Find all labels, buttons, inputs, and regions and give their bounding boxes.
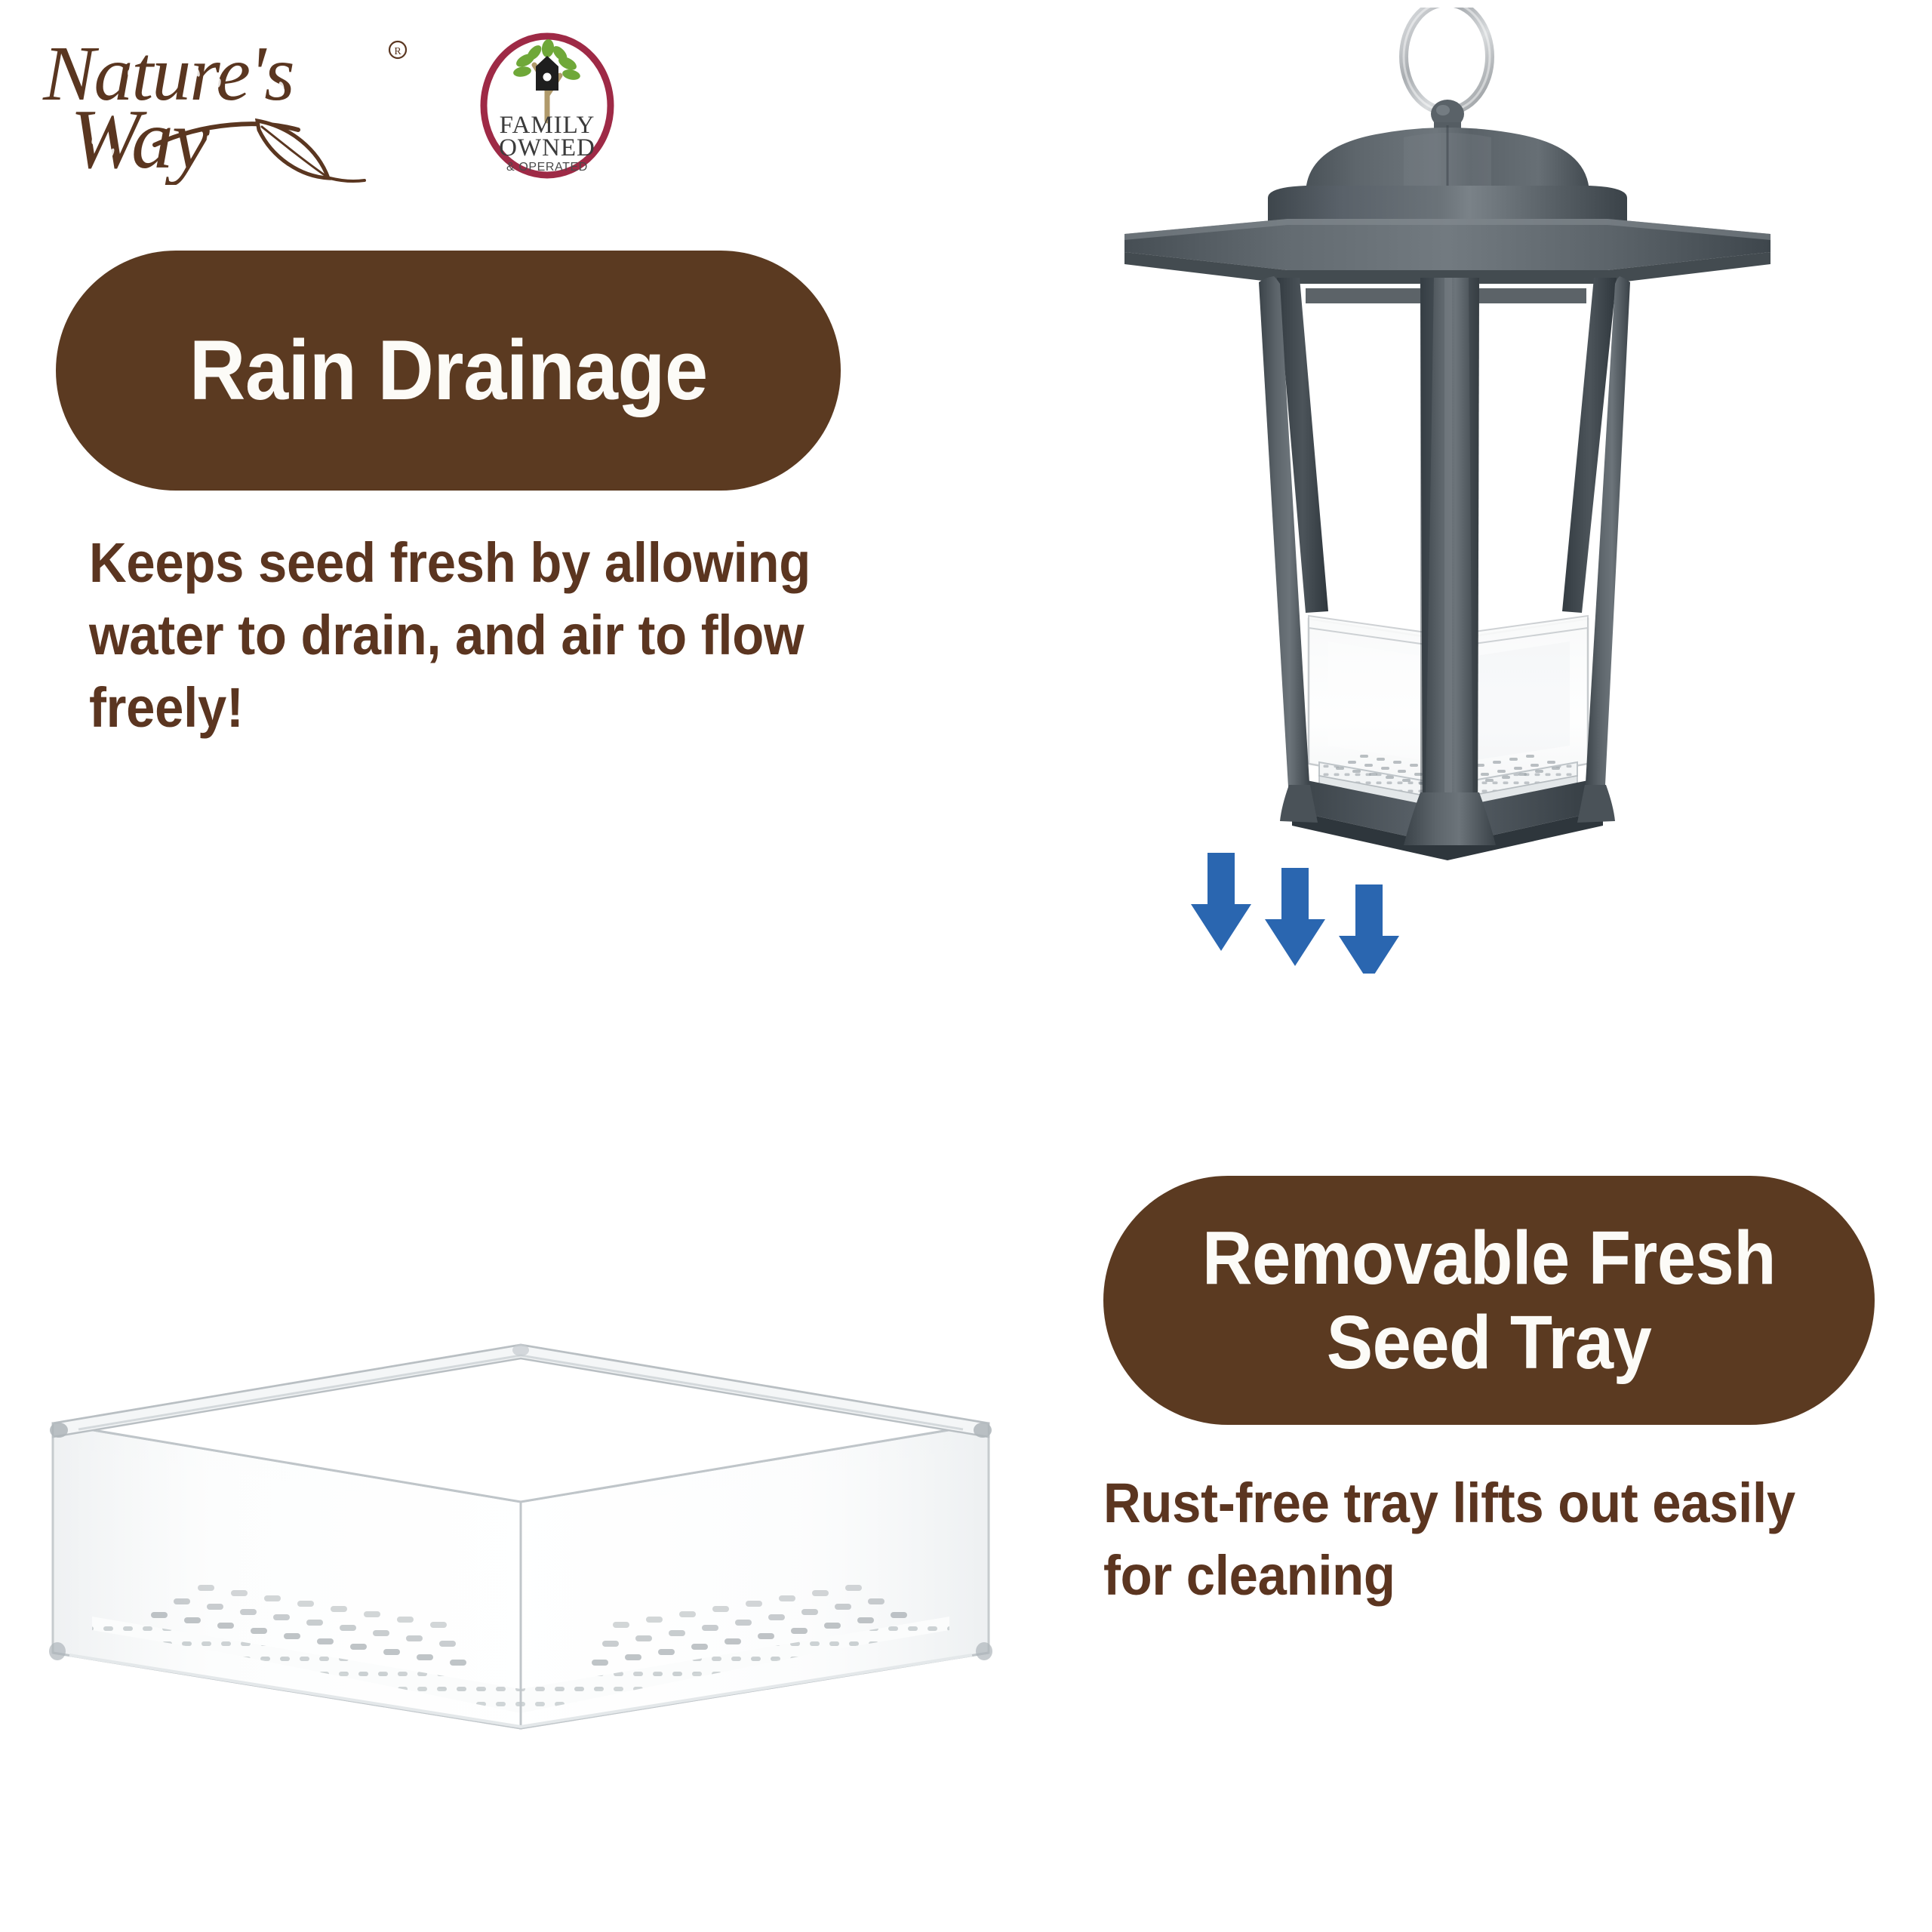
birdhouse-icon	[536, 56, 558, 91]
feature-description-removable-fresh-seed-tray: Rust-free tray lifts out easily for clea…	[1103, 1467, 1847, 1612]
product-image-clear-seed-tray	[23, 1275, 1019, 1804]
drainage-arrow-1	[1191, 853, 1251, 951]
brand-header: Nature's Way	[0, 0, 679, 211]
feature-pill-rain-drainage: Rain Drainage	[56, 251, 841, 491]
tree-icon	[512, 38, 581, 121]
hanger-ring	[1404, 8, 1490, 111]
natures-way-logo: Nature's Way	[42, 30, 419, 185]
feature-description-rain-drainage: Keeps seed fresh by allowing water to dr…	[89, 527, 840, 745]
feature-pill-removable-fresh-seed-tray: Removable Fresh Seed Tray	[1103, 1176, 1875, 1425]
registered-trademark-icon: R	[389, 42, 406, 58]
drainage-arrow-2	[1265, 868, 1325, 966]
feature-pill-label: Removable Fresh Seed Tray	[1162, 1216, 1817, 1385]
svg-text:R: R	[394, 46, 401, 57]
badge-line-2: OWNED	[499, 134, 595, 162]
product-image-hanging-bird-feeder	[1079, 8, 1781, 974]
drainage-arrows-group	[1191, 853, 1399, 974]
family-owned-badge: FAMILY OWNED & OPERATED	[475, 30, 619, 181]
drainage-arrow-3	[1339, 884, 1399, 974]
badge-line-3: & OPERATED	[506, 161, 588, 174]
feature-pill-label: Rain Drainage	[189, 323, 708, 417]
front-leg-center-foot	[1404, 792, 1496, 845]
svg-text:Way: Way	[70, 93, 210, 185]
